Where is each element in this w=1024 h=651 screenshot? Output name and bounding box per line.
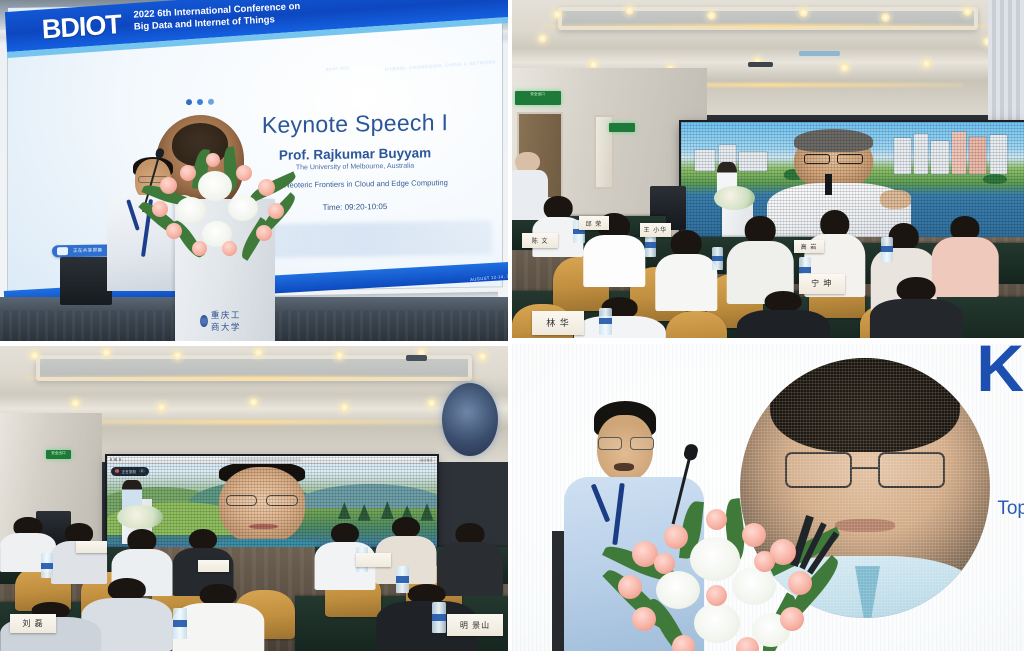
water-bottle (599, 308, 612, 335)
slide-heading: Keynote Speech I (222, 108, 488, 139)
audience-member (870, 277, 962, 338)
exit-sign-secondary (609, 123, 635, 132)
audience-member (573, 297, 665, 338)
remote-speaker-handheld-mic (825, 174, 832, 195)
audience-member (737, 291, 829, 338)
exit-sign: 安全出口 (515, 91, 561, 105)
camera-icon (57, 247, 68, 255)
address-bar[interactable] (229, 458, 302, 462)
table-placard: 高 岩 (794, 240, 825, 254)
placard-label: 陈 文 (532, 236, 549, 245)
screen-share-label: 正在共享屏幕 (73, 248, 102, 254)
water-bottle (645, 233, 656, 257)
table-placard: 明 景山 (447, 614, 503, 635)
placard-label: 宁 坤 (811, 278, 832, 289)
table-placard: 林 华 (532, 311, 583, 335)
recording-label: 正在录制 (122, 469, 136, 474)
panel-session-chair-closeup: K Top (512, 344, 1024, 651)
table-placard: 邱 荣 (579, 216, 610, 230)
podium-flower-bouquet (602, 495, 842, 651)
table-placard: 宁 坤 (799, 274, 845, 294)
chair-glasses (598, 437, 654, 450)
chair-mouth (614, 463, 634, 471)
panel-audience-led-wall: 安全出口 (512, 0, 1024, 338)
table-placard: 刘 磊 (10, 614, 56, 632)
bdiot-logo-text: BDIOT (41, 9, 122, 45)
conference-title-lines: 2022 6th International Conference on Big… (133, 1, 301, 33)
panel-video-conference-wall: 安全出口 (0, 346, 508, 651)
ac-vent (799, 51, 840, 57)
table-placard (356, 553, 392, 567)
slide-big-letter: K (976, 344, 1022, 406)
slide-topic-fragment: Top (997, 498, 1024, 520)
recording-indicator[interactable]: 正在录制 2 (111, 467, 149, 476)
remote-speaker-glasses (804, 154, 862, 165)
water-bottle (712, 247, 723, 271)
placard-label: 王 小华 (644, 225, 668, 234)
lectern-flowers (117, 505, 163, 529)
recording-count-badge: 2 (139, 469, 145, 473)
water-bottle (881, 237, 893, 262)
water-bottle (396, 566, 409, 593)
university-logo-icon (200, 315, 208, 327)
table-placard (76, 541, 106, 553)
band-small-text: BDIOT 2022 (326, 66, 349, 72)
three-dots-decoration (186, 99, 214, 105)
placard-label: 刘 磊 (22, 618, 43, 629)
table-placard (198, 560, 228, 572)
water-bottle (41, 553, 53, 577)
placard-label: 林 华 (546, 316, 570, 329)
water-bottle (432, 602, 446, 633)
podium-flower-bouquet (136, 137, 306, 257)
browser-meta-text: 会议信息 (420, 458, 433, 462)
browser-chrome-bar: 会议信息 (107, 456, 437, 464)
placard-label: 邱 荣 (586, 219, 603, 228)
hybrid-location-text: HYBRID: CHONGQING, CHINA & NETWORK (385, 59, 496, 72)
placard-label: 明 景山 (460, 620, 490, 631)
table-placard: 王 小华 (640, 223, 671, 237)
lectern-flowers (714, 186, 755, 210)
exit-sign: 安全出口 (46, 450, 71, 459)
window-control-dots[interactable] (110, 458, 122, 461)
panel-keynote-slide: BDIOT 2022 6th International Conference … (0, 0, 508, 341)
table-placard: 陈 文 (522, 233, 558, 248)
exit-sign-label: 安全出口 (515, 91, 561, 98)
remote-speaker-hand (880, 190, 911, 209)
remote-speaker-hair (794, 129, 873, 153)
placard-label: 高 岩 (801, 242, 818, 251)
photo-collage: BDIOT 2022 6th International Conference … (0, 0, 1024, 651)
audience-member (51, 523, 107, 584)
water-bottle (173, 608, 187, 639)
exit-sign-label: 安全出口 (46, 450, 71, 457)
remote-presenter-glasses (226, 495, 299, 506)
record-dot-icon (115, 469, 119, 473)
ceiling-projector (748, 62, 774, 67)
podium-organization-sign: 重庆工商大学 (200, 309, 250, 333)
ceiling-projector (406, 355, 426, 361)
podium-organization-label: 重庆工商大学 (211, 309, 250, 333)
wall-speaker-dome (442, 383, 498, 456)
slide-top-banner: BDIOT 2022 6th International Conference … (5, 0, 508, 52)
